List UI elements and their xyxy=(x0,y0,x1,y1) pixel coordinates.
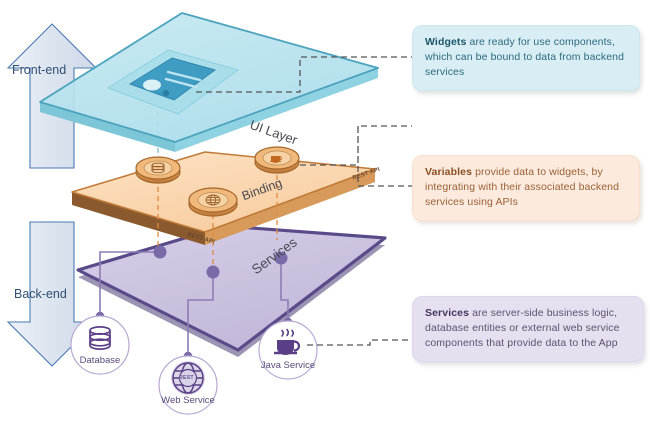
variable-token-java-service xyxy=(255,147,299,173)
callout-services-line-3: provide data to the App xyxy=(507,337,617,349)
service-label-web-service: Web Service xyxy=(152,395,224,406)
callout-widgets-term: Widgets xyxy=(425,36,466,48)
variable-token-web-service xyxy=(189,188,237,216)
callout-services-term: Services xyxy=(425,307,469,319)
callout-widgets: Widgets are ready for use components, wh… xyxy=(412,25,640,91)
callout-variables: Variables provide data to widgets, by in… xyxy=(412,155,640,221)
front-end-arrow-label: Front-end xyxy=(12,63,66,77)
services-node-web-service xyxy=(207,266,220,279)
callout-variables-line-0: provide data to widgets, by xyxy=(475,166,603,178)
web-service-rest-badge: REST xyxy=(179,375,194,381)
architecture-diagram: UI Layer Binding Services REST API REST … xyxy=(0,0,650,427)
variable-token-database xyxy=(136,157,180,183)
callout-widgets-line-0: are ready for use xyxy=(470,36,551,48)
back-end-arrow-label: Back-end xyxy=(14,287,67,301)
callout-services: Services are server-side business logic,… xyxy=(412,296,644,362)
callout-variables-term: Variables xyxy=(425,166,472,178)
service-label-database: Database xyxy=(72,355,128,366)
ui-layer-plane xyxy=(40,13,378,152)
callout-services-line-0: are server-side business xyxy=(472,307,589,319)
services-node-database xyxy=(154,246,167,259)
service-label-java-service: Java Service xyxy=(252,360,324,371)
callout-variables-line-1: integrating with their associated xyxy=(425,181,576,193)
connector-services xyxy=(307,340,412,345)
